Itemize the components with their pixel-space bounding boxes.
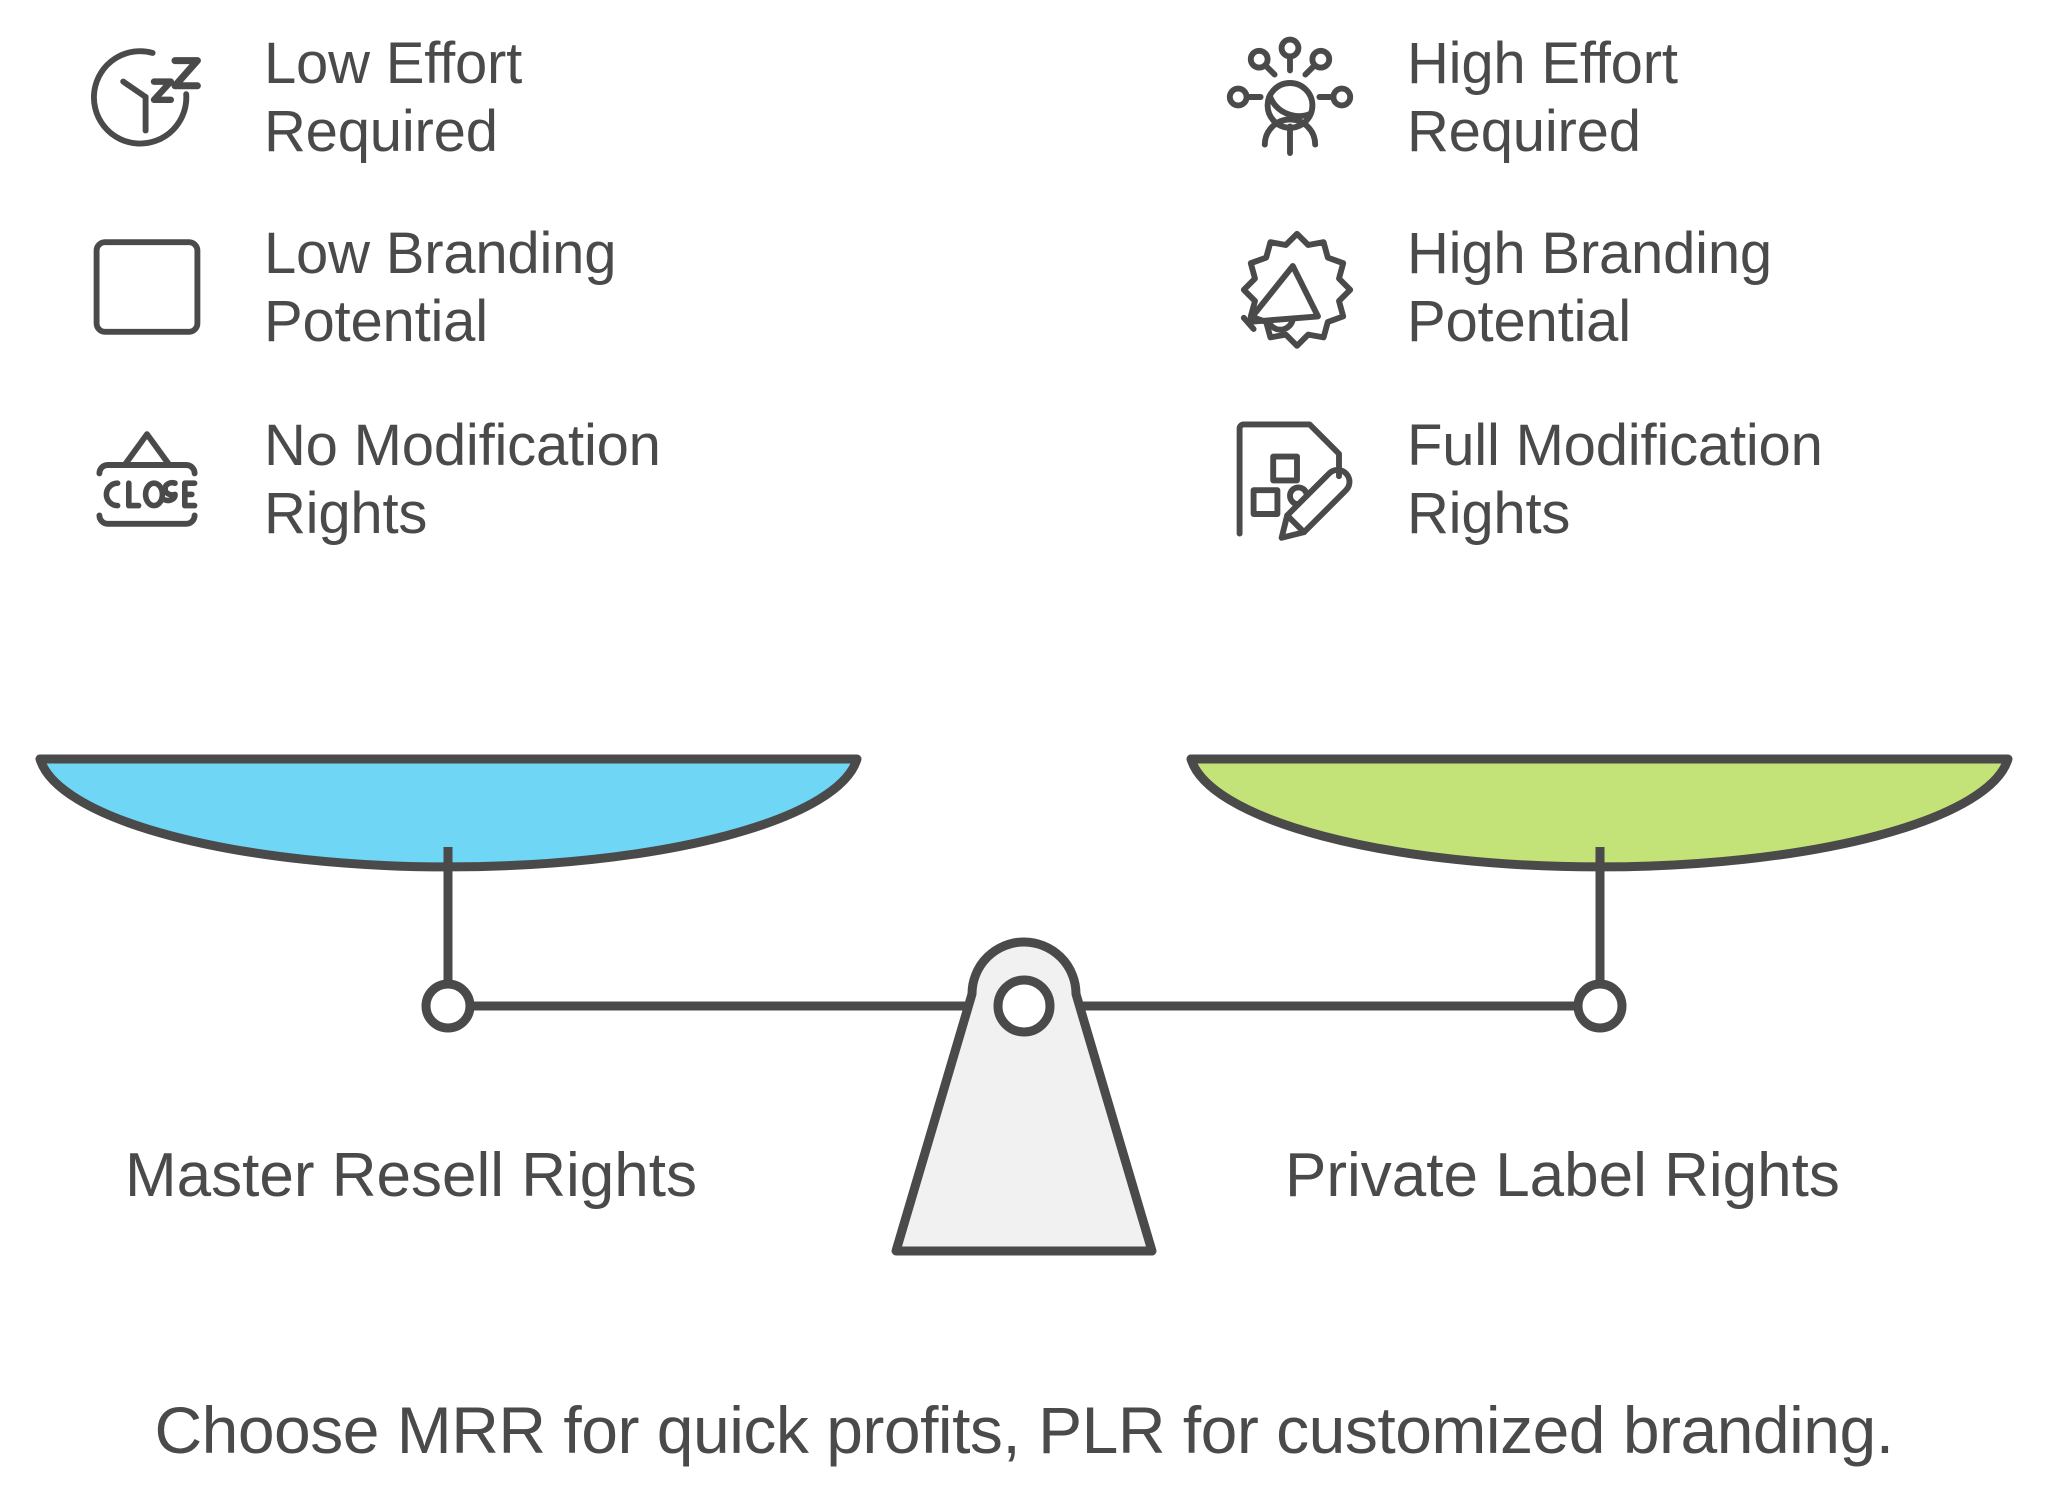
feature-row-low-effort: Low Effort Required <box>72 22 522 172</box>
feature-label: High Effort Required <box>1407 22 1678 166</box>
feature-label: Low Effort Required <box>264 22 522 166</box>
document-edit-icon <box>1215 404 1365 554</box>
left-side-label: Master Resell Rights <box>125 1140 697 1211</box>
balance-scale <box>0 735 2048 1375</box>
right-beam-ring <box>1578 984 1622 1028</box>
feature-row-full-modification: Full Modification Rights <box>1215 404 1823 554</box>
megaphone-badge-icon <box>1215 212 1365 362</box>
left-beam-ring <box>426 984 470 1028</box>
feature-row-no-modification: No Modification Rights <box>72 404 661 554</box>
close-sign-icon <box>72 404 222 554</box>
diagram-canvas: Low Effort Required Low Branding Potenti… <box>0 0 2048 1506</box>
empty-square-icon <box>72 212 222 362</box>
fulcrum-pivot-icon <box>998 980 1050 1032</box>
feature-label: Low Branding Potential <box>264 212 616 356</box>
person-network-idea-icon <box>1215 22 1365 172</box>
feature-row-low-branding: Low Branding Potential <box>72 212 616 362</box>
feature-label: High Branding Potential <box>1407 212 1772 356</box>
clock-sleep-icon <box>72 22 222 172</box>
feature-row-high-branding: High Branding Potential <box>1215 212 1772 362</box>
feature-label: No Modification Rights <box>264 404 661 548</box>
summary-caption: Choose MRR for quick profits, PLR for cu… <box>0 1392 2048 1468</box>
right-side-label: Private Label Rights <box>1285 1140 1840 1211</box>
feature-label: Full Modification Rights <box>1407 404 1823 548</box>
feature-row-high-effort: High Effort Required <box>1215 22 1678 172</box>
